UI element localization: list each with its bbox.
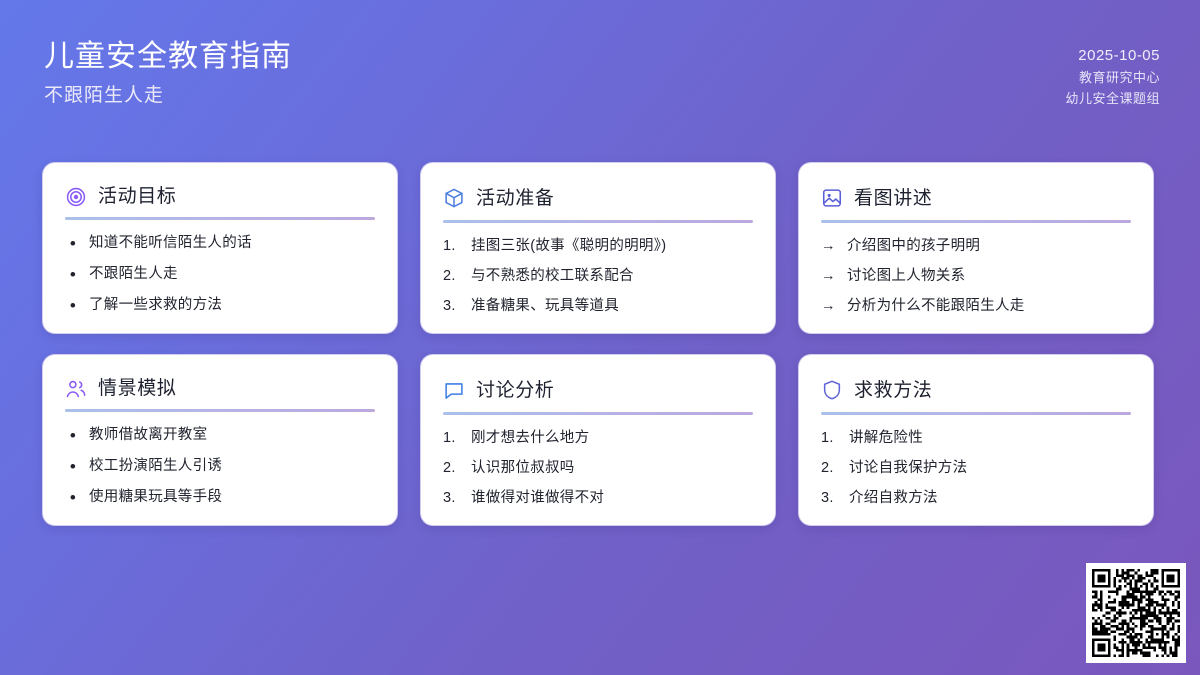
- list-marker: →: [821, 236, 839, 257]
- list-marker: •: [65, 264, 81, 286]
- target-icon: [65, 186, 87, 208]
- card-3[interactable]: 看图讲述→介绍图中的孩子明明→讨论图上人物关系→分析为什么不能跟陌生人走: [798, 162, 1154, 334]
- list-item: 1.讲解危险性: [821, 428, 1131, 449]
- list-item-text: 介绍图中的孩子明明: [847, 236, 1131, 257]
- list-item-text: 认识那位叔叔吗: [471, 458, 753, 479]
- list-item: •知道不能听信陌生人的话: [65, 233, 375, 255]
- list-item-text: 分析为什么不能跟陌生人走: [847, 296, 1131, 317]
- list-item: 2.讨论自我保护方法: [821, 458, 1131, 479]
- qr-code[interactable]: [1086, 563, 1186, 663]
- list-marker: 3.: [443, 488, 463, 509]
- list-item: 2.认识那位叔叔吗: [443, 458, 753, 479]
- list-item: •使用糖果玩具等手段: [65, 487, 375, 509]
- card-item-list: 1.讲解危险性2.讨论自我保护方法3.介绍自救方法: [821, 428, 1131, 509]
- card-4[interactable]: 情景模拟•教师借故离开教室•校工扮演陌生人引诱•使用糖果玩具等手段: [42, 354, 398, 526]
- list-item: 1.挂图三张(故事《聪明的明明》): [443, 236, 753, 257]
- card-divider: [821, 412, 1131, 415]
- list-item: →分析为什么不能跟陌生人走: [821, 296, 1131, 317]
- header-left: 儿童安全教育指南 不跟陌生人走: [44, 34, 292, 108]
- card-header: 情景模拟: [65, 377, 375, 400]
- list-item: 3.介绍自救方法: [821, 488, 1131, 509]
- card-divider: [821, 220, 1131, 223]
- list-marker: 1.: [443, 236, 463, 257]
- list-item-text: 刚才想去什么地方: [471, 428, 753, 449]
- card-title: 活动准备: [476, 189, 554, 208]
- card-item-list: •知道不能听信陌生人的话•不跟陌生人走•了解一些求救的方法: [65, 233, 375, 317]
- list-item-text: 介绍自救方法: [849, 488, 1131, 509]
- list-item-text: 使用糖果玩具等手段: [89, 487, 375, 508]
- list-marker: •: [65, 456, 81, 478]
- list-item-text: 谁做得对谁做得不对: [471, 488, 753, 509]
- card-divider: [443, 220, 753, 223]
- list-item-text: 校工扮演陌生人引诱: [89, 456, 375, 477]
- list-item: 2.与不熟悉的校工联系配合: [443, 266, 753, 287]
- meta-date: 2025-10-05: [1065, 44, 1160, 67]
- list-item-text: 准备糖果、玩具等道具: [471, 296, 753, 317]
- list-item: •了解一些求救的方法: [65, 295, 375, 317]
- shield-icon: [821, 379, 843, 401]
- card-title: 讨论分析: [476, 381, 554, 400]
- package-box-icon: [443, 187, 465, 209]
- card-divider: [65, 217, 375, 219]
- card-divider: [65, 409, 375, 411]
- page-title: 儿童安全教育指南: [44, 38, 292, 76]
- list-marker: 2.: [821, 458, 841, 479]
- list-item-text: 教师借故离开教室: [89, 425, 375, 446]
- qr-code-image: [1092, 569, 1180, 657]
- list-item: •校工扮演陌生人引诱: [65, 456, 375, 478]
- card-divider: [443, 412, 753, 415]
- list-marker: 3.: [443, 296, 463, 317]
- list-marker: •: [65, 295, 81, 317]
- list-marker: •: [65, 425, 81, 447]
- list-item: •教师借故离开教室: [65, 425, 375, 447]
- card-title: 求救方法: [854, 381, 932, 400]
- card-6[interactable]: 求救方法1.讲解危险性2.讨论自我保护方法3.介绍自救方法: [798, 354, 1154, 526]
- card-title: 看图讲述: [854, 189, 932, 208]
- page-subtitle: 不跟陌生人走: [44, 84, 292, 109]
- card-1[interactable]: 活动目标•知道不能听信陌生人的话•不跟陌生人走•了解一些求救的方法: [42, 162, 398, 334]
- list-item-text: 知道不能听信陌生人的话: [89, 233, 375, 254]
- list-item-text: 挂图三张(故事《聪明的明明》): [471, 236, 753, 257]
- card-2[interactable]: 活动准备1.挂图三张(故事《聪明的明明》)2.与不熟悉的校工联系配合3.准备糖果…: [420, 162, 776, 334]
- card-item-list: •教师借故离开教室•校工扮演陌生人引诱•使用糖果玩具等手段: [65, 425, 375, 509]
- list-marker: 1.: [443, 428, 463, 449]
- list-item-text: 了解一些求救的方法: [89, 295, 375, 316]
- card-item-list: 1.挂图三张(故事《聪明的明明》)2.与不熟悉的校工联系配合3.准备糖果、玩具等…: [443, 236, 753, 317]
- list-item-text: 讲解危险性: [849, 428, 1131, 449]
- list-item: 1.刚才想去什么地方: [443, 428, 753, 449]
- users-people-icon: [65, 378, 87, 400]
- list-marker: 3.: [821, 488, 841, 509]
- list-marker: →: [821, 296, 839, 317]
- card-header: 求救方法: [821, 377, 1131, 403]
- list-marker: •: [65, 233, 81, 255]
- image-picture-icon: [821, 187, 843, 209]
- card-header: 活动目标: [65, 185, 375, 208]
- card-item-list: →介绍图中的孩子明明→讨论图上人物关系→分析为什么不能跟陌生人走: [821, 236, 1131, 317]
- list-marker: •: [65, 487, 81, 509]
- list-item-text: 与不熟悉的校工联系配合: [471, 266, 753, 287]
- list-marker: 1.: [821, 428, 841, 449]
- list-item: →介绍图中的孩子明明: [821, 236, 1131, 257]
- meta-organization: 教育研究中心: [1065, 67, 1160, 88]
- list-item-text: 讨论图上人物关系: [847, 266, 1131, 287]
- card-5[interactable]: 讨论分析1.刚才想去什么地方2.认识那位叔叔吗3.谁做得对谁做得不对: [420, 354, 776, 526]
- list-marker: 2.: [443, 458, 463, 479]
- list-item: •不跟陌生人走: [65, 264, 375, 286]
- speech-bubble-icon: [443, 379, 465, 401]
- slide-header: 儿童安全教育指南 不跟陌生人走 2025-10-05 教育研究中心 幼儿安全课题…: [44, 34, 1160, 130]
- card-item-list: 1.刚才想去什么地方2.认识那位叔叔吗3.谁做得对谁做得不对: [443, 428, 753, 509]
- card-header: 讨论分析: [443, 377, 753, 403]
- list-marker: 2.: [443, 266, 463, 287]
- meta-group: 幼儿安全课题组: [1065, 88, 1160, 109]
- card-header: 活动准备: [443, 185, 753, 211]
- list-item-text: 讨论自我保护方法: [849, 458, 1131, 479]
- list-item: →讨论图上人物关系: [821, 266, 1131, 287]
- list-item-text: 不跟陌生人走: [89, 264, 375, 285]
- list-marker: →: [821, 266, 839, 287]
- card-title: 活动目标: [98, 187, 176, 206]
- list-item: 3.谁做得对谁做得不对: [443, 488, 753, 509]
- header-meta: 2025-10-05 教育研究中心 幼儿安全课题组: [1065, 34, 1160, 109]
- card-title: 情景模拟: [98, 379, 176, 398]
- card-header: 看图讲述: [821, 185, 1131, 211]
- card-grid: 活动目标•知道不能听信陌生人的话•不跟陌生人走•了解一些求救的方法活动准备1.挂…: [42, 162, 1158, 526]
- list-item: 3.准备糖果、玩具等道具: [443, 296, 753, 317]
